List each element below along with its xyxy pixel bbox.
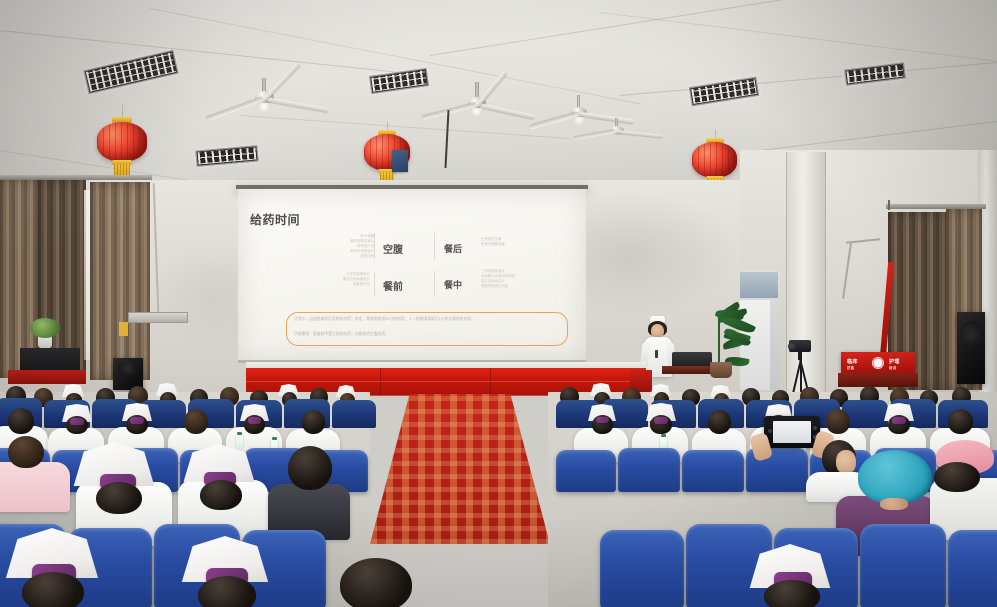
neck [880, 498, 908, 510]
slide-keyword-before-meal: 餐前 [383, 278, 403, 293]
door-window [740, 272, 778, 298]
curtain-hook [888, 200, 890, 210]
slide-keyword-during-meal: 餐中 [444, 278, 462, 291]
hospital-emblem [872, 357, 884, 369]
projection-screen[interactable]: 给药时间 阿卡波糖 格列吡嗪控释片 甲硝唑片剂 阿司匹林肠溶片 奥美拉唑 空腹 … [238, 189, 586, 362]
slide-keyword-after-meal: 餐后 [444, 242, 462, 255]
slide-title: 给药时间 [250, 211, 300, 228]
banner-subtext-right: 培训 [889, 365, 897, 370]
curtain-rod [0, 175, 152, 180]
slide-arc-decoration [244, 189, 316, 213]
slide-keyword-empty-stomach: 空腹 [383, 241, 403, 256]
slide-note-line-1: 达菲乐：自退热病好后及晚间给药；肯定、胃溃疡饭前30分钟给药；十二指肠溃疡饭后1… [294, 317, 560, 323]
curtain-left [90, 182, 150, 380]
wall-socket-strip [128, 312, 188, 323]
banner-text-left: 临床 [847, 358, 858, 365]
slide-faint-bottom-left: 左甲状腺素钠片 雷贝拉唑钠肠溶片 福善美片剂 [258, 272, 370, 287]
potted-plant [694, 300, 760, 380]
ceiling-fan [575, 118, 675, 152]
slide-faint-top-left: 阿卡波糖 格列吡嗪控释片 甲硝唑片剂 阿司匹林肠溶片 奥美拉唑 [286, 234, 374, 259]
slide-note-line-2: 伊曲康唑：胶囊制甲管后即刻给药；口服液须空腹给药。 [294, 332, 560, 338]
slide-faint-bottom-right: 二甲双胍肠溶片 消化酶片及助消化药物 复方氢氧化铝片 碳酸钙咀嚼片剂型 [481, 269, 581, 289]
event-banner: 临床 技能 护理 培训 [841, 352, 915, 374]
ceiling-fan [215, 78, 335, 126]
curtain-rod [886, 204, 986, 209]
audience-row-front [0, 440, 997, 530]
plant-foliage [30, 318, 60, 338]
name-badge [655, 350, 658, 358]
audience-row-nearest [0, 520, 997, 607]
slide-note-box: 达菲乐：自退热病好后及晚间给药；肯定、胃溃疡饭前30分钟给药；十二指肠溃疡饭后1… [286, 312, 568, 346]
auditorium-photo: 给药时间 阿卡波糖 格列吡嗪控释片 甲硝唑片剂 阿司匹林肠溶片 奥美拉唑 空腹 … [0, 0, 997, 607]
wall-card [392, 150, 408, 172]
banner-text-right: 护理 [889, 358, 900, 365]
banner-subtext-left: 技能 [847, 365, 855, 370]
wall-switch [119, 322, 128, 336]
slide-faint-top-right: 头孢类抗生素 布洛芬缓释胶囊 [481, 237, 571, 247]
